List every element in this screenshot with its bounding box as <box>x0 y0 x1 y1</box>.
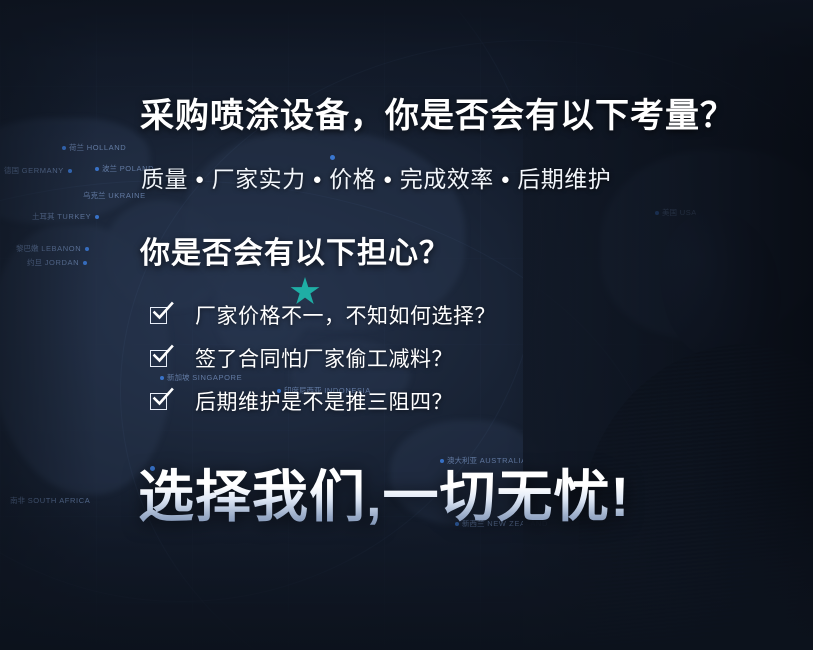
bullet-separator-icon: ● <box>501 171 511 188</box>
banner-content: 采购喷涂设备，你是否会有以下考量？ 质量●厂家实力●价格●完成效率●后期维护 你… <box>0 0 813 650</box>
primary-headline: 采购喷涂设备，你是否会有以下考量？ <box>140 88 735 137</box>
bullet-separator-icon: ● <box>195 171 205 188</box>
checkbox-checked-icon <box>150 393 169 412</box>
check-mark-icon <box>152 345 174 367</box>
consideration-item: 质量 <box>141 166 188 192</box>
consideration-item: 完成效率 <box>400 166 494 192</box>
bullet-separator-icon: ● <box>313 171 323 188</box>
promo-banner: 荷兰 HOLLAND 波兰 POLAND 德国 GERMANY 乌克兰 UKRA… <box>0 0 813 650</box>
consideration-item: 价格 <box>329 166 376 192</box>
worry-text: 厂家价格不一，不知如何选择？ <box>195 300 496 330</box>
bullet-separator-icon: ● <box>383 171 393 188</box>
secondary-headline: 你是否会有以下担心？ <box>140 228 450 272</box>
worry-text: 后期维护是不是推三阻四？ <box>195 386 453 416</box>
check-mark-icon <box>152 302 174 324</box>
consideration-item: 厂家实力 <box>212 166 306 192</box>
check-mark-icon <box>152 388 174 410</box>
worry-list: 厂家价格不一，不知如何选择？ 签了合同怕厂家偷工减料？ <box>148 300 618 429</box>
worry-text: 签了合同怕厂家偷工减料？ <box>195 343 453 373</box>
worry-list-item: 厂家价格不一，不知如何选择？ <box>148 300 618 343</box>
slogan-text: 选择我们,一切无忧! <box>138 452 630 533</box>
considerations-line: 质量●厂家实力●价格●完成效率●后期维护 <box>141 160 611 194</box>
worry-list-item: 后期维护是不是推三阻四？ <box>148 386 618 429</box>
worry-list-item: 签了合同怕厂家偷工减料？ <box>148 343 618 386</box>
checkbox-checked-icon <box>150 307 169 326</box>
consideration-item: 后期维护 <box>517 166 611 192</box>
checkbox-checked-icon <box>150 350 169 369</box>
